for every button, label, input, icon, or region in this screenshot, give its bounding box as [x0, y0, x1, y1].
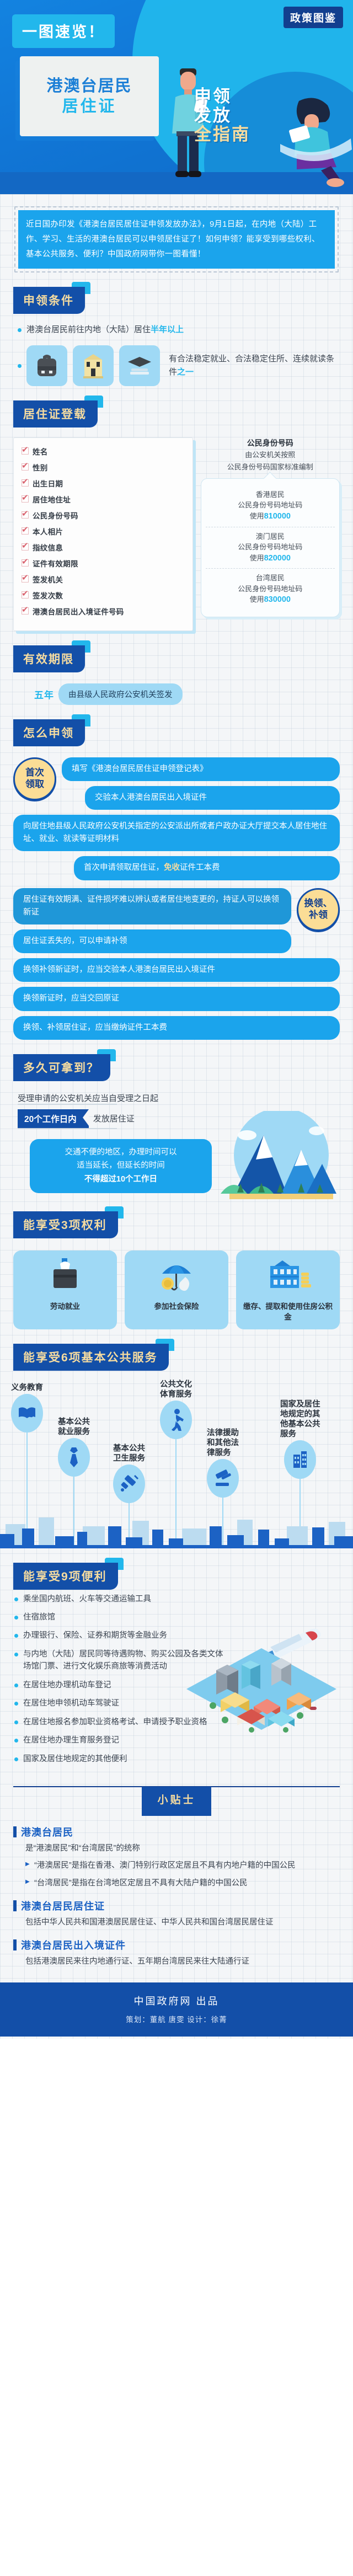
field-label: 姓名 [33, 446, 48, 457]
condition-2-text-wrap: 有合法稳定就业、合法稳定住所、连续就读条件之一 [169, 352, 340, 379]
list-item: 指纹信息 [22, 542, 186, 553]
badge-line-2: 领取 [25, 779, 44, 790]
seated-woman-illustration [280, 97, 352, 188]
code-desc: 公民身份号码地址码 [206, 542, 335, 553]
tip-bar-decor [13, 1826, 17, 1837]
validity-heading: 有效期限 [13, 645, 85, 672]
infographic-page: 政策图鉴 一图速览！ 港澳台居民 居住证 申领 发放 全指南 [0, 0, 353, 2039]
timing-line-1: 受理申请的公安机关应当自受理之日起 [18, 1092, 340, 1104]
right-tile-insurance: 参加社会保险 [125, 1250, 228, 1329]
tip-title: 港澳台居民 [13, 1825, 340, 1839]
brand-logo: 政策图鉴 [284, 7, 343, 28]
validity-issuer: 由县级人民政府公安机关签发 [58, 683, 183, 705]
apply-step: 向居住地县级人民政府公安机关指定的公安派出所或者户政办证大厅提交本人居住地住址、… [13, 815, 340, 851]
tip-title-text: 港澳台居民 [21, 1825, 73, 1839]
first-application-badge: 首次 领取 [13, 757, 56, 800]
runner-icon [160, 1401, 192, 1439]
code-number: 810000 [264, 512, 291, 521]
services-heading-wrap: 能享受6项基本公共服务 [13, 1344, 169, 1371]
timing-delay-note: 交通不便的地区，办理时间可以 适当延长，但延长的时间 不得超过10个工作日 [30, 1139, 212, 1193]
conveniences-body: 乘坐国内航班、火车等交通运输工具 住宿旅馆 办理银行、保险、证券和期货等金融业务… [13, 1593, 340, 1766]
right-label: 劳动就业 [18, 1302, 113, 1312]
tip-description: 包括港澳居民来往内地通行证、五年期台湾居民来往大陆通行证 [25, 1955, 340, 1968]
section-conditions: 申领条件 港澳台居民前往内地（大陆）居住半年以上 [0, 287, 353, 386]
graduation-icon [119, 345, 160, 386]
condition-item-2: 有合法稳定就业、合法稳定住所、连续就读条件之一 [17, 345, 340, 386]
service-label: 基本公共 就业服务 [58, 1417, 90, 1437]
delay-line-3: 不得超过10个工作日 [40, 1173, 202, 1187]
field-label: 签发机关 [33, 574, 63, 585]
service-label: 法律援助 和其他法 律服务 [207, 1428, 239, 1458]
section-apply: 怎么申领 首次 领取 填写《港澳台居民居住证申领登记表》 交验本人港澳台居民出入… [0, 719, 353, 1040]
check-icon [22, 479, 29, 487]
timing-body: 受理申请的公安机关应当自受理之日起 20个工作日内 发放居住证 交通不便的地区，… [13, 1092, 340, 1197]
check-icon [22, 543, 29, 551]
apply-step: 交验本人港澳台居民出入境证件 [85, 786, 340, 810]
code-use-prefix: 使用 [250, 554, 264, 562]
registration-field-list: 姓名 性别 出生日期 居住地住址 公民身份号码 本人相片 指纹信息 证件有效期限… [13, 437, 193, 631]
apply-heading: 怎么申领 [13, 719, 85, 746]
intro-section: 近日国办印发《港澳台居民居住证申领发放办法》，9月1日起，在内地（大陆）工作、学… [0, 194, 353, 272]
check-icon [22, 511, 29, 519]
backpack-icon [26, 345, 67, 386]
tips-heading: 小贴士 [142, 1787, 211, 1816]
check-icon [22, 591, 29, 598]
tip-bar-decor [13, 1900, 17, 1911]
delay-line-1: 交通不便的地区，办理时间可以 [40, 1146, 202, 1159]
umbrella-coin-icon [154, 1258, 199, 1295]
address-code-item: 台湾居民 公民身份号码地址码 使用830000 [206, 568, 335, 610]
building-icon [73, 345, 114, 386]
timing-heading: 多久可拿到？ [13, 1054, 110, 1081]
briefcase-icon [44, 1258, 87, 1295]
list-item: 住宿旅馆 [13, 1611, 228, 1623]
gavel-icon [207, 1459, 239, 1498]
field-label: 公民身份号码 [33, 510, 78, 521]
house-coins-icon [264, 1258, 312, 1295]
apply-step-free: 首次申请领取居住证，免收证件工本费 [74, 856, 340, 880]
badge-line-2: 补领 [309, 910, 328, 921]
rights-heading: 能享受3项权利 [13, 1211, 118, 1238]
check-icon [22, 447, 29, 455]
renewal-group: 居住证有效期满、证件损坏难以辨认或者居住地变更的，持证人可以换领新证 居住证丢失… [13, 888, 340, 1040]
right-tile-employment: 劳动就业 [13, 1250, 117, 1329]
tip-title-text: 港澳台居民出入境证件 [21, 1938, 126, 1952]
tip-sub-item: “港澳居民”是指在香港、澳门特别行政区定居且不具有内地户籍的中国公民 [25, 1859, 340, 1872]
right-label: 参加社会保险 [129, 1302, 224, 1312]
title-line-2: 居住证 [62, 97, 116, 116]
check-icon [22, 527, 29, 535]
free-step-highlight: 免收 [164, 863, 180, 872]
code-desc: 公民身份号码地址码 [206, 584, 335, 595]
book-icon [11, 1394, 43, 1433]
code-region: 澳门居民 [206, 531, 335, 542]
tip-bar-decor [13, 1939, 17, 1950]
field-label: 出生日期 [33, 478, 63, 489]
list-item: 乘坐国内航班、火车等交通运输工具 [13, 1593, 228, 1605]
tips-header: 小贴士 [13, 1781, 340, 1816]
list-item: 签发机关 [22, 574, 186, 585]
list-item: 公民身份号码 [22, 510, 186, 521]
tip-description: 是“港澳居民”和“台湾居民”的统称 [25, 1842, 340, 1855]
list-item: 本人相片 [22, 526, 186, 537]
service-label: 义务教育 [11, 1383, 43, 1393]
code-region: 台湾居民 [206, 573, 335, 584]
hero-headline-2: 发放 [194, 106, 250, 126]
list-item: 出生日期 [22, 478, 186, 489]
field-label: 性别 [33, 462, 48, 473]
badge-line-1: 换领、 [304, 898, 333, 909]
footer-producer: 中国政府网 出品 [0, 1994, 353, 2008]
registration-heading: 居住证登载 [13, 400, 98, 427]
first-application-group: 首次 领取 填写《港澳台居民居住证申领登记表》 交验本人港澳台居民出入境证件 向… [13, 757, 340, 880]
check-icon [22, 559, 29, 566]
isometric-city-illustration [184, 1646, 339, 1762]
validity-row: 五年 由县级人民政府公安机关签发 [34, 683, 340, 705]
condition-2-highlight: 之一 [177, 367, 194, 377]
list-item: 居住地住址 [22, 494, 186, 505]
timing-rule-decor-2 [18, 1128, 117, 1129]
timing-line-2-rest: 发放居住证 [93, 1113, 135, 1124]
intro-text: 近日国办印发《港澳台居民居住证申领发放办法》，9月1日起，在内地（大陆）工作、学… [18, 210, 335, 269]
quick-glance-tab: 一图速览！ [12, 14, 115, 48]
code-use-prefix: 使用 [250, 595, 264, 603]
tip-title-text: 港澳台居民居住证 [21, 1899, 105, 1913]
section-registration: 居住证登载 姓名 性别 出生日期 居住地住址 公民身份号码 本人相片 指纹信息 … [0, 400, 353, 631]
tip-block-residence-permit: 港澳台居民居住证 包括中华人民共和国港澳居民居住证、中华人民共和国台湾居民居住证 [13, 1899, 340, 1929]
first-step-stack: 填写《港澳台居民居住证申领登记表》 交验本人港澳台居民出入境证件 [62, 757, 340, 815]
title-line-1: 港澳台居民 [46, 76, 132, 96]
services-heading: 能享受6项基本公共服务 [13, 1344, 169, 1371]
section-timing: 多久可拿到？ 受理申请的公安机关应当自受理之日起 20个工作日内 发放居住证 交… [0, 1054, 353, 1197]
list-item: 签发次数 [22, 590, 186, 601]
conveniences-heading: 能享受9项便利 [13, 1563, 118, 1590]
apply-heading-wrap: 怎么申领 [13, 719, 85, 746]
renew-step: 换领补领新证时，应当交验本人港澳台居民出入境证件 [13, 958, 340, 982]
condition-1-highlight: 半年以上 [151, 325, 184, 334]
check-icon [22, 463, 29, 471]
content-body: 近日国办印发《港澳台居民居住证申领发放办法》，9月1日起，在内地（大陆）工作、学… [0, 194, 353, 2039]
renew-step: 居住证丢失的，可以申请补领 [13, 929, 291, 953]
timing-days-flag: 20个工作日内 [18, 1109, 89, 1128]
list-item: 办理银行、保险、证券和期货等金融业务 [13, 1629, 228, 1642]
code-region: 香港居民 [206, 489, 335, 500]
validity-heading-wrap: 有效期限 [13, 645, 85, 672]
tip-block-residents: 港澳台居民 是“港澳居民”和“台湾居民”的统称 “港澳居民”是指在香港、澳门特别… [13, 1825, 340, 1890]
address-code-item: 澳门居民 公民身份号码地址码 使用820000 [206, 527, 335, 569]
rights-tiles: 劳动就业 参加社会保险 [13, 1250, 340, 1329]
hero-headline-group: 申领 发放 全指南 [194, 87, 250, 145]
zigzag-decor [157, 1807, 195, 1810]
renew-step: 居住证有效期满、证件损坏难以辨认或者居住地变更的，持证人可以换领新证 [13, 888, 291, 924]
list-item: 姓名 [22, 446, 186, 457]
registration-columns: 姓名 性别 出生日期 居住地住址 公民身份号码 本人相片 指纹信息 证件有效期限… [13, 437, 340, 631]
code-use-prefix: 使用 [250, 512, 264, 520]
section-validity: 有效期限 五年 由县级人民政府公安机关签发 [0, 645, 353, 705]
right-label: 缴存、提取和使用住房公积金 [240, 1302, 335, 1323]
tip-title: 港澳台居民居住证 [13, 1899, 340, 1913]
field-label: 本人相片 [33, 526, 63, 537]
field-label: 签发次数 [33, 590, 63, 601]
conditions-heading: 申领条件 [13, 287, 85, 314]
tips-heading-text: 小贴士 [157, 1794, 195, 1806]
code-desc: 公民身份号码地址码 [206, 500, 335, 511]
tip-title: 港澳台居民出入境证件 [13, 1938, 340, 1952]
renewal-row: 居住证有效期满、证件损坏难以辨认或者居住地变更的，持证人可以换领新证 居住证丢失… [13, 888, 340, 959]
field-label: 指纹信息 [33, 542, 63, 553]
address-code-box: 香港居民 公民身份号码地址码 使用810000 澳门居民 公民身份号码地址码 使… [201, 478, 340, 617]
footer-credits: 策划：董航 唐雯 设计：徐菁 [0, 2013, 353, 2024]
registration-heading-wrap: 居住证登载 [13, 400, 98, 427]
address-code-item: 香港居民 公民身份号码地址码 使用810000 [206, 485, 335, 527]
renewal-badge: 换领、 补领 [297, 888, 340, 931]
list-item: 港澳台居民出入境证件号码 [22, 606, 186, 617]
condition-1-text: 港澳台居民前往内地（大陆）居住 [26, 325, 151, 334]
service-label: 国家及居住 地规定的其 他基本公共 服务 [280, 1399, 320, 1440]
services-balloons: 义务教育 基本公共 就业服务 [0, 1377, 353, 1548]
buildings-icon [284, 1440, 316, 1479]
right-tile-housing-fund: 缴存、提取和使用住房公积金 [236, 1250, 340, 1329]
apply-step: 填写《港澳台居民居住证申领登记表》 [62, 757, 340, 781]
rights-heading-wrap: 能享受3项权利 [13, 1211, 118, 1238]
intro-dashed-frame: 近日国办印发《港澳台居民居住证申领发放办法》，9月1日起，在内地（大陆）工作、学… [14, 206, 339, 272]
service-label: 基本公共 卫生服务 [113, 1444, 145, 1463]
check-icon [22, 575, 29, 582]
renew-step: 换领新证时，应当交回原证 [13, 987, 340, 1011]
conditions-heading-wrap: 申领条件 [13, 287, 85, 314]
city-skyline-decor [0, 1510, 353, 1548]
hero-headline-3: 全指南 [194, 125, 250, 145]
condition-item-1: 港澳台居民前往内地（大陆）居住半年以上 [17, 323, 340, 337]
page-footer: 中国政府网 出品 策划：董航 唐雯 设计：徐菁 [0, 1982, 353, 2037]
renew-step: 换领、补领居住证，应当缴纳证件工本费 [13, 1016, 340, 1040]
tip-sub-item: “台湾居民”是指在台湾地区定居且不具有大陆户籍的中国公民 [25, 1877, 340, 1890]
timing-rule-decor [18, 1104, 117, 1105]
timing-heading-wrap: 多久可拿到？ [13, 1054, 110, 1081]
check-icon [22, 495, 29, 503]
tie-icon [58, 1438, 90, 1477]
service-label: 公共文化 体育服务 [160, 1380, 192, 1399]
mountain-illustration [199, 1111, 336, 1199]
check-icon [22, 607, 29, 614]
list-item: 性别 [22, 462, 186, 473]
section-rights: 能享受3项权利 劳动就业 [0, 1211, 353, 1329]
renewal-step-stack: 居住证有效期满、证件损坏难以辨认或者居住地变更的，持证人可以换领新证 居住证丢失… [13, 888, 291, 959]
hero-banner: 政策图鉴 一图速览！ 港澳台居民 居住证 申领 发放 全指南 [0, 0, 353, 194]
free-step-suffix: 证件工本费 [180, 863, 220, 872]
tip-description: 包括中华人民共和国港澳居民居住证、中华人民共和国台湾居民居住证 [25, 1916, 340, 1929]
field-label: 证件有效期限 [33, 558, 78, 569]
validity-years: 五年 [34, 687, 54, 701]
section-conveniences: 能享受9项便利 乘坐国内航班、火车等交通运输工具 住宿旅馆 办理银行、保险、证券… [0, 1563, 353, 1766]
section-services: 能享受6项基本公共服务 [0, 1344, 353, 1374]
title-card: 港澳台居民 居住证 [20, 56, 159, 136]
conveniences-heading-wrap: 能享受9项便利 [13, 1563, 118, 1590]
id-number-sub-2: 公民身份号码国家标准编制 [201, 462, 340, 473]
delay-line-2: 适当延长，但延长的时间 [40, 1159, 202, 1173]
badge-line-1: 首次 [25, 767, 44, 778]
first-application-row: 首次 领取 填写《港澳台居民居住证申领登记表》 交验本人港澳台居民出入境证件 [13, 757, 340, 815]
list-item: 证件有效期限 [22, 558, 186, 569]
hero-headline-1: 申领 [194, 87, 250, 106]
id-number-sub-1: 由公安机关按照 [201, 450, 340, 461]
field-label: 居住地住址 [33, 494, 71, 505]
id-number-title: 公民身份号码 [201, 437, 340, 448]
field-label: 港澳台居民出入境证件号码 [33, 606, 124, 617]
syringe-icon [113, 1465, 145, 1503]
code-number: 820000 [264, 554, 291, 563]
free-step-prefix: 首次申请领取居住证， [84, 863, 164, 872]
code-number: 830000 [264, 595, 291, 604]
section-tips: 小贴士 港澳台居民 是“港澳居民”和“台湾居民”的统称 “港澳居民”是指在香港、… [0, 1781, 353, 1968]
conditions-bullet-list: 港澳台居民前往内地（大陆）居住半年以上 [17, 323, 340, 337]
tip-block-travel-document: 港澳台居民出入境证件 包括港澳居民来往内地通行证、五年期台湾居民来往大陆通行证 [13, 1938, 340, 1968]
id-number-column: 公民身份号码 由公安机关按照 公民身份号码国家标准编制 香港居民 公民身份号码地… [201, 437, 340, 631]
